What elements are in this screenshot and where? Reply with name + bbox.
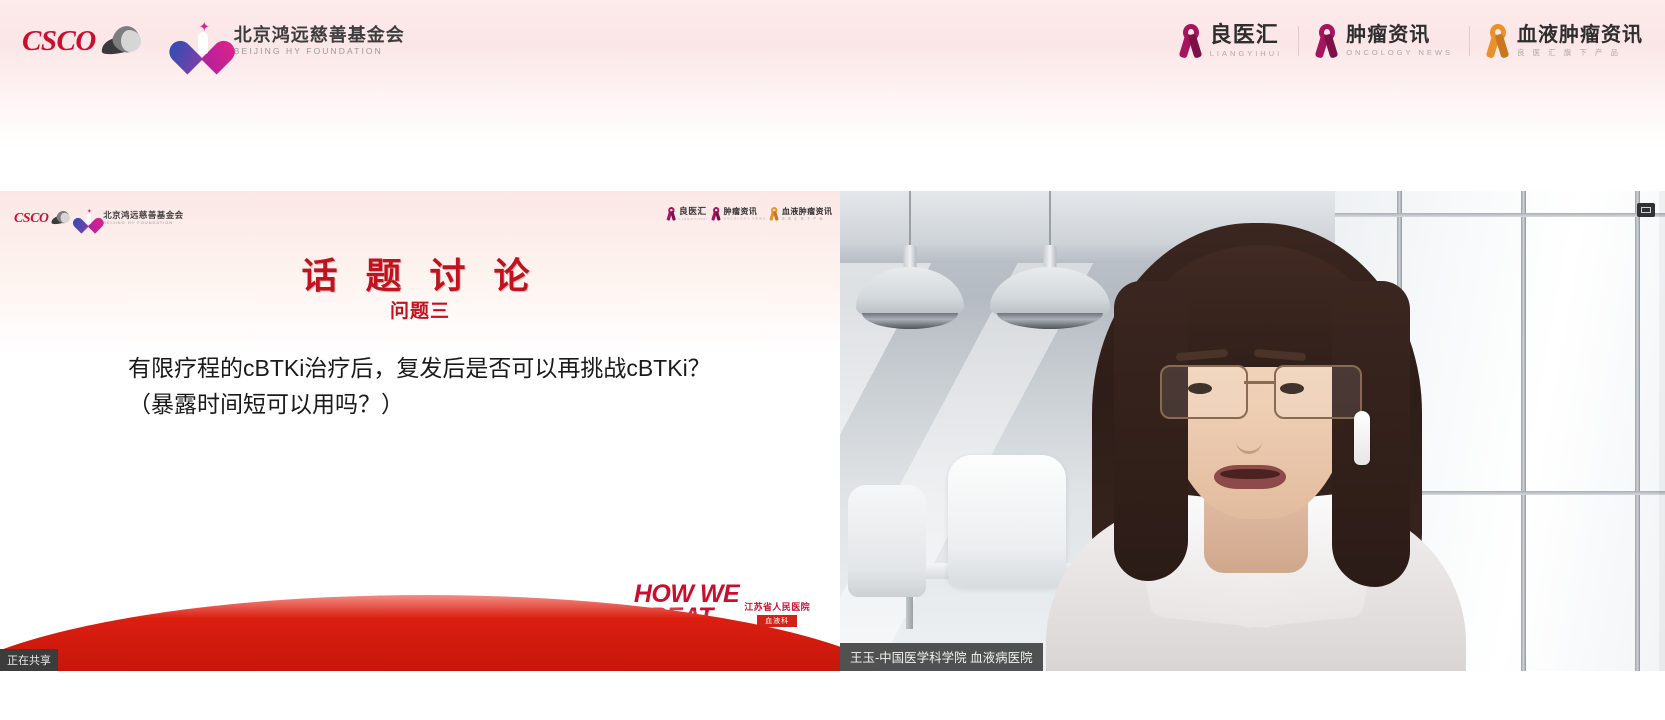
- slide-brand-oncology-en: ONCOLOGY NEWS: [723, 217, 766, 220]
- share-stage: CSCO ✦ 北京鸿远慈善基金会 BEIJING HY FOUNDATION: [0, 191, 1665, 671]
- csco-logo: CSCO: [14, 210, 72, 226]
- csco-emblem-icon: [99, 24, 145, 58]
- slide-hy-name-en: BEIJING HY FOUNDATION: [103, 221, 183, 225]
- banner-gradient-filler: [0, 82, 1665, 191]
- slide-brand-liangyihui-cn: 良医汇: [679, 207, 708, 216]
- ribbon-icon: [1315, 24, 1339, 58]
- ribbon-icon: [769, 207, 779, 221]
- brand-liangyihui: 良医汇 LIANGYIHUI: [666, 207, 707, 221]
- slide-brand-oncology-cn: 肿瘤资讯: [723, 208, 766, 216]
- banner-right-logo-group: 良医汇 LIANGYIHUI 肿瘤资讯 ONCOLOGY NEWS: [1179, 24, 1643, 58]
- hy-foundation-name-cn: 北京鸿远慈善基金会: [234, 26, 405, 45]
- brand-oncology-news-cn: 肿瘤资讯: [1346, 25, 1453, 45]
- brand-hematology-news-en: 良 医 汇 旗 下 产 品: [1517, 49, 1643, 57]
- brand-liangyihui-cn: 良医汇: [1210, 24, 1283, 46]
- logo-divider: [1469, 26, 1470, 56]
- slide-body: 有限疗程的cBTKi治疗后，复发后是否可以再挑战cBTKi？ （暴露时间短可以用…: [128, 351, 768, 422]
- chair: [848, 485, 926, 597]
- brand-oncology-news: 肿瘤资讯 ONCOLOGY NEWS: [1315, 24, 1453, 58]
- participant-person: [1036, 215, 1476, 671]
- brand-oncology-news-en: ONCOLOGY NEWS: [1346, 49, 1453, 57]
- video-scrollbar[interactable]: [1659, 191, 1665, 671]
- slide-brand-liangyihui-en: LIANGYIHUI: [679, 218, 708, 221]
- hy-foundation-logo: ✦ 北京鸿远慈善基金会 BEIJING HY FOUNDATION: [181, 20, 405, 62]
- pendant-lamp-icon: [856, 191, 964, 333]
- logo-divider: [1298, 26, 1299, 56]
- csco-logo: CSCO: [22, 24, 145, 58]
- slide-logo-group-left: CSCO ✦ 北京鸿远慈善基金会 BEIJING HY FOUNDATION: [14, 208, 184, 228]
- slide-logo-group-right: 良医汇 LIANGYIHUI 肿瘤资讯 ONCOLOGY NEWS 血液肿瘤: [666, 207, 832, 221]
- brand-liangyihui: 良医汇 LIANGYIHUI: [1179, 24, 1283, 58]
- participant-name-label: 王玉-中国医学科学院 血液病医院: [840, 643, 1043, 671]
- slide-brand-hematology-en: 良 医 汇 旗 下 产 品: [782, 217, 832, 220]
- shared-slide[interactable]: CSCO ✦ 北京鸿远慈善基金会 BEIJING HY FOUNDATION: [0, 191, 840, 671]
- top-banner: CSCO ✦ 北京鸿远慈善基金会 BEIJING HY FOUNDATION: [0, 0, 1665, 82]
- slide-hy-name-cn: 北京鸿远慈善基金会: [103, 211, 183, 220]
- slide-csco-logo-text: CSCO: [14, 210, 49, 226]
- brand-hematology-news: 血液肿瘤资讯 良 医 汇 旗 下 产 品: [769, 207, 832, 221]
- slide-question-line-2: （暴露时间短可以用吗？）: [128, 387, 768, 423]
- slide-subtitle: 问题三: [0, 296, 840, 323]
- banner-left-logo-group: CSCO ✦ 北京鸿远慈善基金会 BEIJING HY FOUNDATION: [22, 20, 405, 62]
- brand-hematology-news-cn: 血液肿瘤资讯: [1517, 25, 1643, 45]
- earbud-icon: [1354, 411, 1370, 465]
- heart-icon: ✦: [181, 20, 225, 62]
- brand-hematology-news: 血液肿瘤资讯 良 医 汇 旗 下 产 品: [1486, 24, 1643, 58]
- slide-brand-hematology-cn: 血液肿瘤资讯: [782, 208, 832, 216]
- brand-oncology-news: 肿瘤资讯 ONCOLOGY NEWS: [711, 207, 766, 221]
- csco-logo-text: CSCO: [22, 25, 96, 58]
- hy-foundation-name-en: BEIJING HY FOUNDATION: [234, 47, 405, 56]
- sharing-status-chip: 正在共享: [0, 649, 58, 671]
- slide-question-line-1: 有限疗程的cBTKi治疗后，复发后是否可以再挑战cBTKi？: [128, 351, 768, 387]
- ribbon-icon: [711, 207, 721, 221]
- csco-emblem-icon: [50, 210, 72, 226]
- ribbon-icon: [1486, 24, 1510, 58]
- bottom-filler: [0, 671, 1665, 720]
- ribbon-icon: [1179, 24, 1203, 58]
- video-status-badge-icon[interactable]: [1637, 203, 1655, 217]
- brand-liangyihui-en: LIANGYIHUI: [1210, 50, 1283, 58]
- hy-foundation-logo: ✦ 北京鸿远慈善基金会 BEIJING HY FOUNDATION: [78, 208, 183, 228]
- ribbon-icon: [666, 207, 676, 221]
- heart-icon: ✦: [78, 208, 99, 228]
- slide-title: 话 题 讨 论: [0, 247, 840, 299]
- participant-video-tile[interactable]: 王玉-中国医学科学院 血液病医院: [840, 191, 1665, 671]
- hospital-name-cn: 江苏省人民医院: [744, 600, 810, 613]
